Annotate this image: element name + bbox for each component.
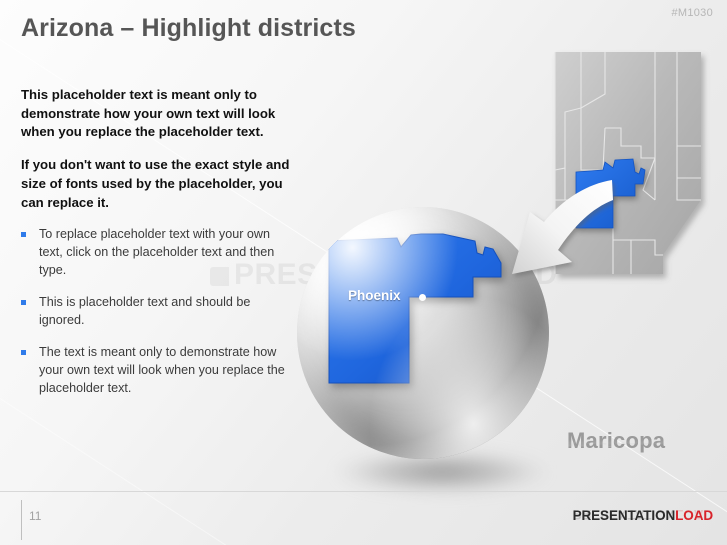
lead-paragraph-1: This placeholder text is meant only to d…	[21, 86, 293, 142]
bullet-square-icon	[21, 300, 26, 305]
bullet-list: To replace placeholder text with your ow…	[21, 226, 293, 397]
list-item-text: The text is meant only to demonstrate ho…	[39, 345, 285, 395]
footer-divider	[0, 491, 727, 492]
bullet-square-icon	[21, 350, 26, 355]
page-number: 11	[29, 509, 41, 523]
district-caption: Maricopa	[567, 428, 665, 454]
list-item: This is placeholder text and should be i…	[21, 294, 293, 330]
text-content-column: This placeholder text is meant only to d…	[21, 86, 293, 411]
list-item-text: To replace placeholder text with your ow…	[39, 227, 274, 277]
curved-arrow-icon	[468, 178, 613, 308]
logo-text-presentation: PRESENTATION	[573, 508, 676, 523]
phoenix-city-label: Phoenix	[348, 288, 401, 303]
phoenix-city-marker-icon	[419, 294, 426, 301]
template-code: #M1030	[671, 7, 713, 19]
page-number-divider	[21, 500, 22, 540]
bullet-square-icon	[21, 232, 26, 237]
list-item: The text is meant only to demonstrate ho…	[21, 344, 293, 398]
lead-paragraph-2: If you don't want to use the exact style…	[21, 156, 293, 212]
list-item-text: This is placeholder text and should be i…	[39, 295, 250, 327]
logo-text-load: LOAD	[675, 508, 713, 523]
list-item: To replace placeholder text with your ow…	[21, 226, 293, 280]
presentationload-logo[interactable]: PRESENTATIONLOAD	[573, 508, 713, 523]
page-title: Arizona – Highlight districts	[21, 14, 356, 43]
